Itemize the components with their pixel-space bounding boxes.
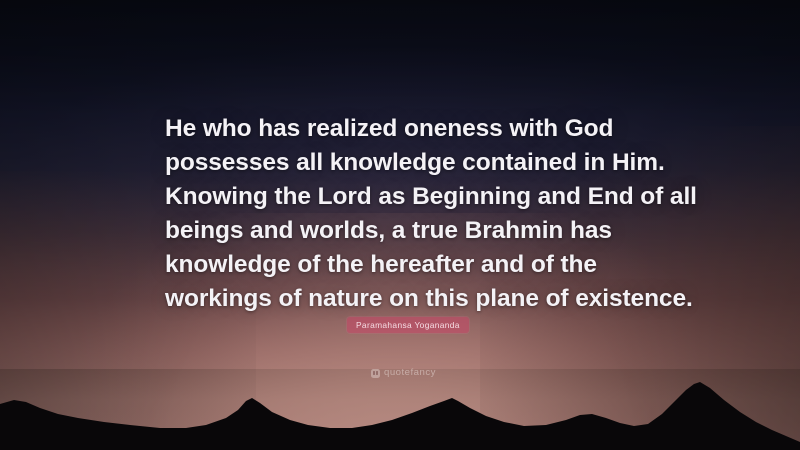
author-name: Paramahansa Yogananda — [356, 320, 460, 330]
quote-line: possesses all knowledge contained in Him… — [165, 146, 665, 180]
quotefancy-logo-icon — [371, 369, 380, 378]
quote-text-block: He who has realized oneness with God pos… — [165, 112, 665, 316]
quote-image-canvas: He who has realized oneness with God pos… — [0, 0, 800, 450]
quote-line: Knowing the Lord as Beginning and End of… — [165, 180, 665, 214]
author-badge: Paramahansa Yogananda — [347, 317, 469, 333]
watermark-label: quotefancy — [384, 368, 436, 378]
quote-line: workings of nature on this plane of exis… — [165, 282, 665, 316]
watermark: quotefancy — [371, 366, 436, 380]
mountain-silhouette — [0, 370, 800, 450]
quote-line: knowledge of the hereafter and of the — [165, 248, 665, 282]
quote-line: He who has realized oneness with God — [165, 112, 665, 146]
quote-line: beings and worlds, a true Brahmin has — [165, 214, 665, 248]
